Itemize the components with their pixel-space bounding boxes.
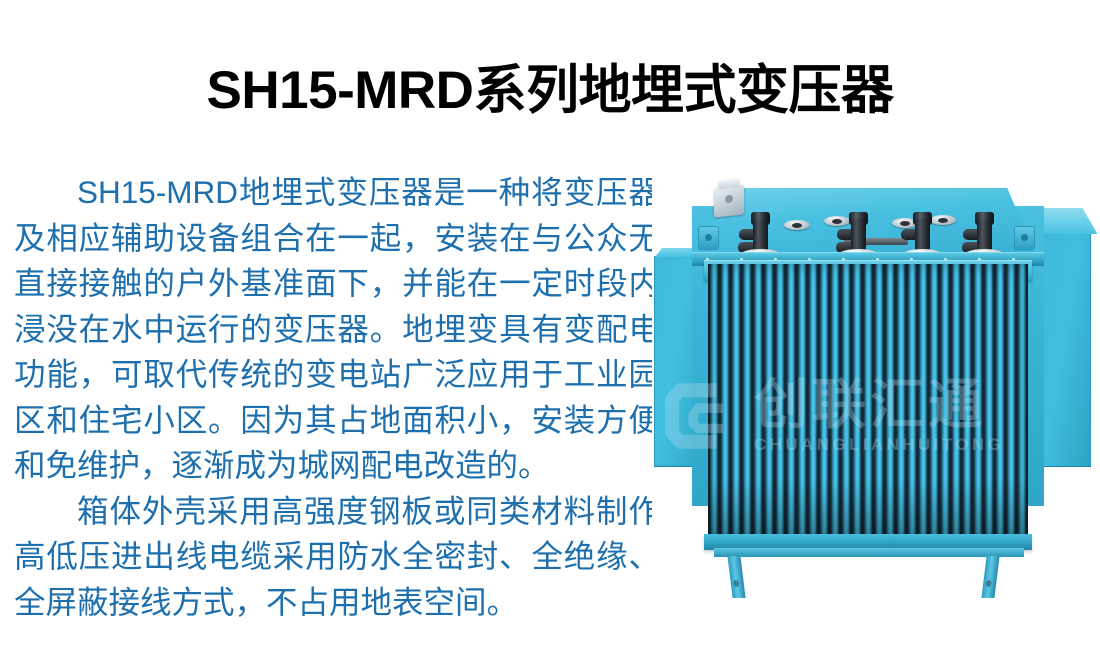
transformer-right-side-panel — [1038, 228, 1091, 467]
lifting-lug — [1014, 226, 1035, 250]
hv-bushing — [750, 204, 771, 258]
terminal-disc-icon — [784, 220, 810, 230]
hv-bushing — [974, 200, 995, 258]
description-paragraph-1: SH15-MRD地埋式变压器是一种将变压器及相应辅助设备组合在一起，安装在与公众… — [14, 170, 660, 489]
description-paragraph-2: 箱体外壳采用高强度钢板或同类材料制作高低压进出线电缆采用防水全密封、全绝缘、全屏… — [14, 489, 660, 626]
radiator-shadow — [708, 478, 1028, 538]
terminal-disc-icon — [930, 215, 956, 225]
lifting-lug — [698, 226, 719, 250]
terminal-disc-icon — [824, 216, 850, 226]
gas-relay-box — [714, 184, 744, 217]
product-image: 创联汇通 CHUANGLIANHUITONG — [652, 178, 1092, 598]
page-title: SH15-MRD系列地埋式变压器 — [0, 61, 1100, 120]
bushing-stem — [915, 219, 930, 253]
bushing-assembly — [696, 182, 1038, 258]
mounting-foot — [727, 556, 745, 598]
bushing-stem — [851, 219, 866, 253]
product-description: SH15-MRD地埋式变压器是一种将变压器及相应辅助设备组合在一起，安装在与公众… — [14, 170, 660, 625]
bushing-stem — [977, 219, 992, 253]
bushing-stem — [753, 219, 768, 253]
hv-bushing — [848, 202, 869, 258]
product-info-banner: SH15-MRD系列地埋式变压器 SH15-MRD地埋式变压器是一种将变压器及相… — [0, 0, 1100, 651]
base-beam — [714, 548, 1024, 557]
mounting-foot — [981, 556, 999, 598]
